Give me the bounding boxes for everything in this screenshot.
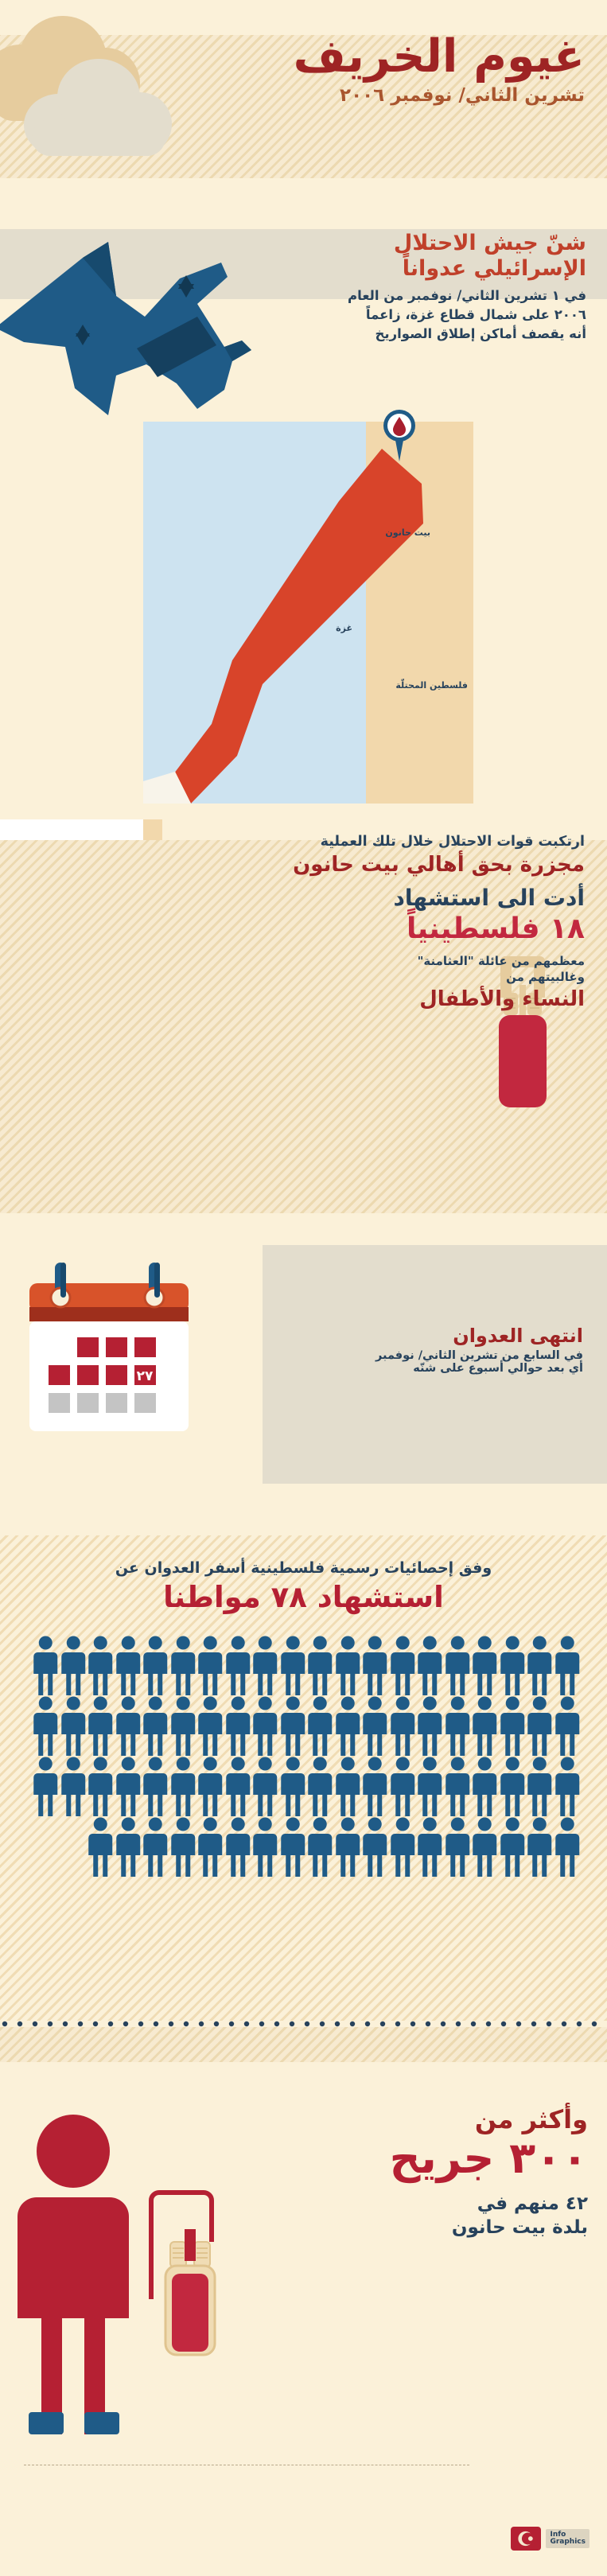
person-icon bbox=[60, 1695, 88, 1756]
person-icon bbox=[32, 1695, 60, 1756]
person-icon bbox=[361, 1635, 389, 1695]
divider-dot bbox=[244, 2021, 249, 2026]
intro-headline-line-1: شنّ جيش الاحتلال bbox=[265, 231, 586, 256]
divider-dot bbox=[169, 2021, 173, 2026]
massacre-line-1: ارتكبت قوات الاحتلال خلال تلك العملية bbox=[139, 834, 585, 850]
page-title: غيوم الخريف bbox=[294, 33, 585, 81]
calendar-line-3: أي بعد حوالي أسبوع على شنّه bbox=[249, 1362, 583, 1375]
person-icon bbox=[115, 1816, 142, 1877]
intro-section: شنّ جيش الاحتلال الإسرائيلي عدواناً في ١… bbox=[0, 180, 607, 418]
wounded-stripe-texture bbox=[0, 2027, 607, 2062]
person-icon bbox=[251, 1695, 279, 1756]
person-icon bbox=[471, 1756, 499, 1816]
divider-dot bbox=[33, 2021, 37, 2026]
pictogram-grid bbox=[32, 1635, 581, 1877]
person-icon bbox=[554, 1816, 582, 1877]
intro-body-line-3: أنه يقصف أماكن إطلاق الصواريخ bbox=[265, 325, 586, 344]
person-icon bbox=[334, 1635, 362, 1695]
section-divider-dots bbox=[0, 2021, 607, 2027]
person-icon bbox=[361, 1695, 389, 1756]
calendar-line-1: انتهى العدوان bbox=[249, 1325, 583, 1347]
divider-dot bbox=[199, 2021, 204, 2026]
massacre-line-5: معظمهم من عائلة "العثامنة" bbox=[139, 953, 585, 969]
person-icon bbox=[444, 1756, 472, 1816]
divider-dot bbox=[501, 2021, 506, 2026]
person-icon bbox=[389, 1635, 417, 1695]
blood-drop-pin-icon bbox=[381, 409, 418, 463]
person-icon bbox=[389, 1695, 417, 1756]
person-icon bbox=[306, 1756, 334, 1816]
divider-dot bbox=[365, 2021, 370, 2026]
person-icon bbox=[499, 1695, 527, 1756]
person-icon bbox=[169, 1756, 197, 1816]
divider-dot bbox=[577, 2021, 582, 2026]
brand-line-2: Graphics bbox=[550, 2539, 586, 2546]
divider-dot bbox=[562, 2021, 566, 2026]
calendar-line-2: في السابع من تشرين الثاني/ نوفمبر bbox=[249, 1349, 583, 1362]
wounded-line-3: ٤٢ منهم في bbox=[214, 2193, 588, 2216]
person-icon bbox=[361, 1816, 389, 1877]
massacre-section: ارتكبت قوات الاحتلال خلال تلك العملية مج… bbox=[0, 819, 607, 1213]
divider-dot bbox=[123, 2021, 128, 2026]
massacre-line-2: مجزرة بحق أهالي بيت حانون bbox=[139, 853, 585, 877]
map-section: بيت حانون غزة فلسطين المحتلّة bbox=[0, 422, 607, 819]
person-icon bbox=[251, 1756, 279, 1816]
page-subtitle: تشرين الثاني/ نوفمبر ٢٠٠٦ bbox=[294, 86, 585, 106]
intro-text-block: شنّ جيش الاحتلال الإسرائيلي عدواناً في ١… bbox=[265, 231, 586, 344]
calendar-highlight-day: ٢٧ bbox=[137, 1368, 154, 1384]
title-block: غيوم الخريف تشرين الثاني/ نوفمبر ٢٠٠٦ bbox=[294, 33, 585, 106]
wounded-text-block: وأكثر من ٣٠٠ جريح ٤٢ منهم في بلدة بيت حا… bbox=[214, 2104, 588, 2239]
person-icon bbox=[142, 1635, 169, 1695]
divider-dot bbox=[154, 2021, 158, 2026]
divider-dot bbox=[411, 2021, 415, 2026]
person-icon bbox=[32, 1635, 60, 1695]
massacre-line-3: أدت الى استشهاد bbox=[139, 885, 585, 911]
divider-dot bbox=[2, 2021, 7, 2026]
divider-dot bbox=[547, 2021, 551, 2026]
divider-dot bbox=[274, 2021, 279, 2026]
infographic-poster: غيوم الخريف تشرين الثاني/ نوفمبر ٢٠٠٦ شن… bbox=[0, 0, 607, 2576]
person-icon bbox=[416, 1816, 444, 1877]
person-icon bbox=[224, 1756, 252, 1816]
person-icon bbox=[169, 1695, 197, 1756]
person-icon bbox=[87, 1756, 115, 1816]
divider-dot bbox=[138, 2021, 143, 2026]
footer-divider bbox=[24, 2465, 469, 2465]
person-icon bbox=[115, 1756, 142, 1816]
intro-body-line-1: في ١ تشرين الثاني/ نوفمبر من العام bbox=[265, 286, 586, 305]
person-icon bbox=[389, 1816, 417, 1877]
intro-body: في ١ تشرين الثاني/ نوفمبر من العام ٢٠٠٦ … bbox=[265, 286, 586, 344]
person-icon bbox=[60, 1756, 88, 1816]
person-icon bbox=[224, 1816, 252, 1877]
intro-headline: شنّ جيش الاحتلال الإسرائيلي عدواناً bbox=[265, 231, 586, 282]
person-icon bbox=[471, 1695, 499, 1756]
divider-dot bbox=[78, 2021, 83, 2026]
divider-dot bbox=[456, 2021, 461, 2026]
footer-section: Info Graphics bbox=[0, 2514, 607, 2576]
person-icon bbox=[389, 1756, 417, 1816]
person-icon bbox=[444, 1816, 472, 1877]
divider-dot bbox=[48, 2021, 53, 2026]
calendar-text-block: انتهى العدوان في السابع من تشرين الثاني/… bbox=[249, 1325, 583, 1375]
brand-badge: Info Graphics bbox=[546, 2529, 589, 2549]
divider-dot bbox=[108, 2021, 113, 2026]
map-right-margin bbox=[473, 422, 505, 804]
cloud-icon bbox=[24, 56, 175, 155]
person-icon bbox=[306, 1816, 334, 1877]
person-icon bbox=[416, 1695, 444, 1756]
divider-dot bbox=[380, 2021, 385, 2026]
gaza-strip-shape bbox=[143, 422, 473, 804]
wounded-line-1: وأكثر من bbox=[214, 2104, 588, 2134]
calendar-icon: ٢٧ bbox=[28, 1261, 211, 1460]
person-icon bbox=[334, 1695, 362, 1756]
divider-dot bbox=[426, 2021, 430, 2026]
intro-headline-line-2: الإسرائيلي عدواناً bbox=[265, 256, 586, 282]
person-icon bbox=[196, 1695, 224, 1756]
person-icon bbox=[416, 1635, 444, 1695]
publisher-logo-icon: Info Graphics bbox=[511, 2527, 589, 2551]
logo-mark-icon bbox=[511, 2527, 541, 2551]
divider-dot bbox=[18, 2021, 22, 2026]
person-icon bbox=[224, 1695, 252, 1756]
massacre-line-6: وغالبيتهم من bbox=[139, 969, 585, 985]
massacre-white-notch bbox=[0, 819, 151, 840]
person-icon bbox=[115, 1635, 142, 1695]
person-icon bbox=[196, 1756, 224, 1816]
person-icon bbox=[416, 1756, 444, 1816]
person-icon bbox=[306, 1695, 334, 1756]
person-icon bbox=[554, 1635, 582, 1695]
calendar-section: ٢٧ انتهى العدوان في السابع من تشرين الثا… bbox=[0, 1213, 607, 1535]
divider-dot bbox=[63, 2021, 68, 2026]
person-icon bbox=[196, 1816, 224, 1877]
divider-dot bbox=[305, 2021, 309, 2026]
person-icon bbox=[115, 1695, 142, 1756]
person-icon bbox=[60, 1635, 88, 1695]
divider-dot bbox=[592, 2021, 597, 2026]
person-icon bbox=[251, 1635, 279, 1695]
map-label-palestine: فلسطين المحتلّة bbox=[395, 680, 468, 691]
wounded-line-4: بلدة بيت حانون bbox=[214, 2216, 588, 2240]
person-icon bbox=[142, 1756, 169, 1816]
divider-dot bbox=[350, 2021, 355, 2026]
person-icon bbox=[196, 1635, 224, 1695]
map-label-gaza: غزة bbox=[336, 623, 352, 633]
person-icon bbox=[334, 1816, 362, 1877]
map-label-beit-hanoun: بيت حانون bbox=[385, 527, 430, 538]
person-icon bbox=[87, 1816, 115, 1877]
fighter-jet-icon bbox=[0, 177, 275, 423]
person-icon bbox=[224, 1635, 252, 1695]
person-icon bbox=[251, 1816, 279, 1877]
person-icon bbox=[279, 1816, 307, 1877]
person-icon bbox=[87, 1695, 115, 1756]
person-icon bbox=[444, 1635, 472, 1695]
person-icon bbox=[554, 1695, 582, 1756]
divider-dot bbox=[320, 2021, 325, 2026]
divider-dot bbox=[335, 2021, 340, 2026]
intro-body-line-2: ٢٠٠٦ على شمال قطاع غزة، زاعماً bbox=[265, 305, 586, 325]
person-icon bbox=[32, 1756, 60, 1816]
person-icon bbox=[142, 1695, 169, 1756]
person-icon bbox=[279, 1695, 307, 1756]
divider-dot bbox=[290, 2021, 294, 2026]
divider-dot bbox=[184, 2021, 189, 2026]
divider-dot bbox=[259, 2021, 264, 2026]
pictogram-line-1: وفق إحصائيات رسمية فلسطينية أسفر العدوان… bbox=[0, 1559, 607, 1577]
divider-dot bbox=[531, 2021, 536, 2026]
massacre-count: ١٨ فلسطينياً bbox=[139, 912, 585, 945]
divider-dot bbox=[214, 2021, 219, 2026]
person-icon bbox=[499, 1635, 527, 1695]
wounded-section: وأكثر من ٣٠٠ جريح ٤٢ منهم في بلدة بيت حا… bbox=[0, 2021, 607, 2514]
person-icon bbox=[526, 1816, 554, 1877]
pictogram-section: وفق إحصائيات رسمية فلسطينية أسفر العدوان… bbox=[0, 1535, 607, 2021]
person-icon bbox=[334, 1756, 362, 1816]
divider-dot bbox=[395, 2021, 400, 2026]
person-icon bbox=[444, 1695, 472, 1756]
person-icon bbox=[526, 1756, 554, 1816]
divider-dot bbox=[516, 2021, 521, 2026]
divider-dot bbox=[93, 2021, 98, 2026]
divider-dot bbox=[471, 2021, 476, 2026]
person-icon bbox=[306, 1635, 334, 1695]
person-icon bbox=[279, 1756, 307, 1816]
massacre-line-7: النساء والأطفال bbox=[139, 987, 585, 1011]
pictogram-heading: وفق إحصائيات رسمية فلسطينية أسفر العدوان… bbox=[0, 1559, 607, 1614]
person-icon bbox=[142, 1816, 169, 1877]
person-icon bbox=[499, 1756, 527, 1816]
person-icon bbox=[526, 1635, 554, 1695]
divider-dot bbox=[229, 2021, 234, 2026]
divider-dot bbox=[441, 2021, 446, 2026]
person-icon bbox=[169, 1816, 197, 1877]
person-icon bbox=[361, 1756, 389, 1816]
divider-dot bbox=[486, 2021, 491, 2026]
person-icon bbox=[169, 1635, 197, 1695]
person-icon bbox=[526, 1695, 554, 1756]
person-icon bbox=[279, 1635, 307, 1695]
person-icon bbox=[87, 1635, 115, 1695]
person-icon bbox=[554, 1756, 582, 1816]
person-icon bbox=[471, 1816, 499, 1877]
wounded-count: ٣٠٠ جريح bbox=[214, 2136, 588, 2181]
person-icon bbox=[471, 1635, 499, 1695]
pictogram-line-2: استشهاد ٧٨ مواطنا bbox=[0, 1580, 607, 1614]
person-icon bbox=[499, 1816, 527, 1877]
massacre-text-block: ارتكبت قوات الاحتلال خلال تلك العملية مج… bbox=[139, 834, 585, 1011]
